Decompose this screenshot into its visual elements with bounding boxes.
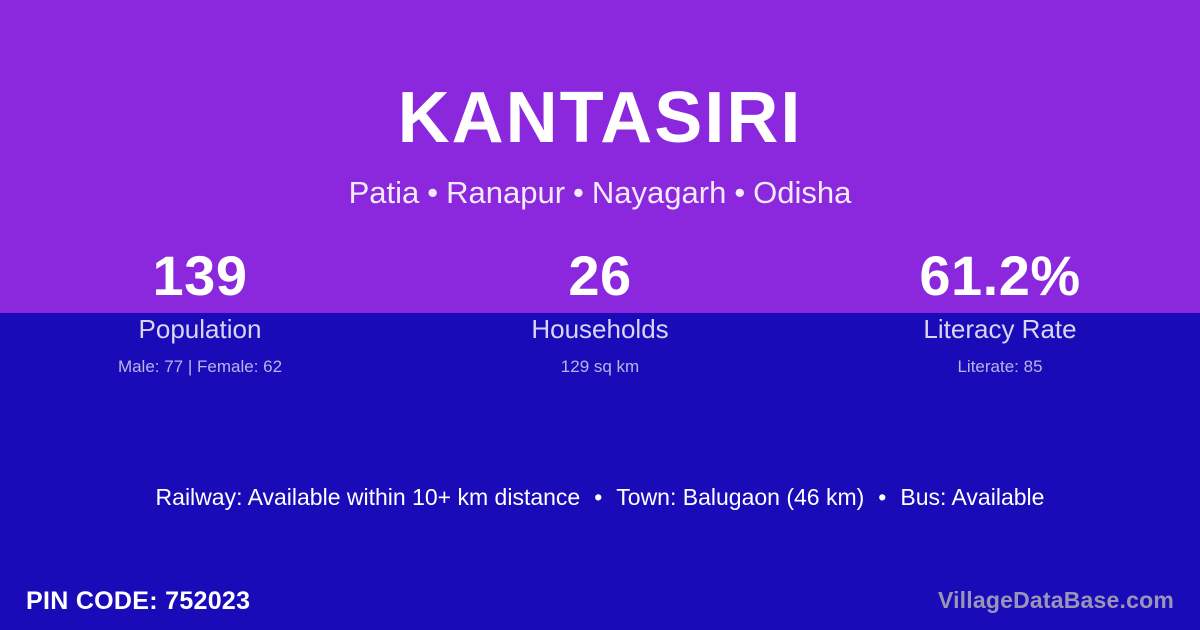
breadcrumb-part-patia: Patia [349, 175, 420, 210]
card-footer: PIN CODE: 752023 VillageDataBase.com [0, 572, 1200, 630]
breadcrumb-part-nayagarh: Nayagarh [592, 175, 726, 210]
site-brand: VillageDataBase.com [938, 587, 1200, 615]
stat-label: Population [0, 309, 400, 346]
stat-label: Households [400, 309, 800, 346]
transport-bus: Bus: Available [900, 484, 1044, 510]
stats-row: 139 Population Male: 77 | Female: 62 26 … [0, 243, 1200, 378]
pin-code: PIN CODE: 752023 [0, 586, 250, 616]
transport-railway: Railway: Available within 10+ km distanc… [156, 484, 581, 510]
breadcrumb: Patia•Ranapur•Nayagarh•Odisha [0, 155, 1200, 210]
stat-sublabel: Male: 77 | Female: 62 [0, 346, 400, 378]
breadcrumb-separator-icon: • [726, 177, 753, 210]
stat-households: 26 Households 129 sq km [400, 243, 800, 378]
breadcrumb-separator-icon: • [565, 177, 592, 210]
stat-population: 139 Population Male: 77 | Female: 62 [0, 243, 400, 378]
stat-literacy-rate: 61.2% Literacy Rate Literate: 85 [800, 243, 1200, 378]
stat-sublabel: 129 sq km [400, 346, 800, 378]
stat-value: 139 [0, 243, 400, 309]
stat-value: 26 [400, 243, 800, 309]
breadcrumb-separator-icon: • [419, 177, 446, 210]
transport-info: Railway: Available within 10+ km distanc… [0, 484, 1200, 512]
card-header: KANTASIRI Patia•Ranapur•Nayagarh•Odisha [0, 0, 1200, 210]
breadcrumb-part-odisha: Odisha [753, 175, 851, 210]
village-info-card: KANTASIRI Patia•Ranapur•Nayagarh•Odisha … [0, 0, 1200, 630]
transport-separator-icon: • [864, 484, 900, 512]
transport-town: Town: Balugaon (46 km) [616, 484, 864, 510]
stat-label: Literacy Rate [800, 309, 1200, 346]
transport-separator-icon: • [580, 484, 616, 512]
page-title: KANTASIRI [0, 0, 1200, 155]
breadcrumb-part-ranapur: Ranapur [446, 175, 565, 210]
stat-value: 61.2% [800, 243, 1200, 309]
stat-sublabel: Literate: 85 [800, 346, 1200, 378]
